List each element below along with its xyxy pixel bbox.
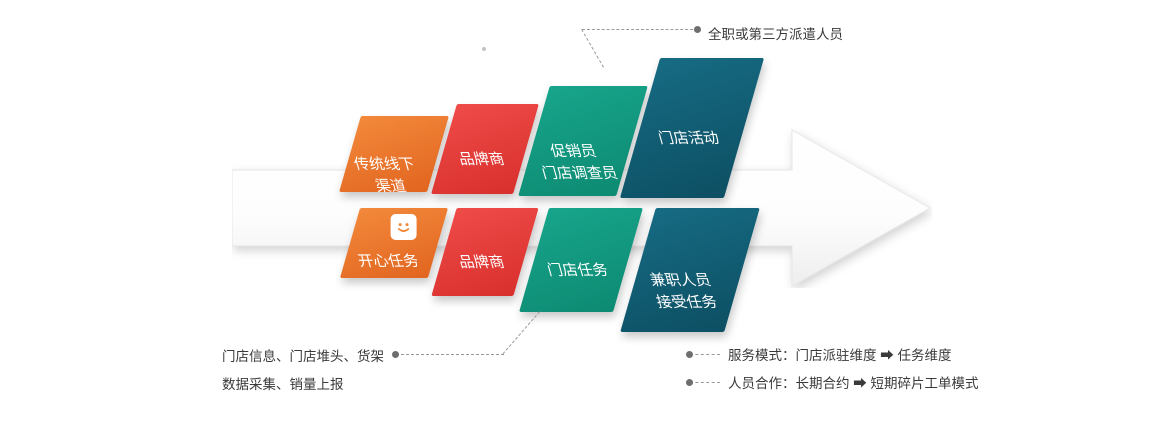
leader-top-right-vertical [582, 29, 698, 30]
tile-store-task-label: 门店任务 [531, 260, 625, 282]
tile-happy-task[interactable]: 开心任务 [340, 208, 448, 278]
dot-bottom-right-1 [686, 351, 693, 358]
tile-brand-owner-bottom-label: 品牌商 [441, 252, 523, 274]
annotation-bottom-right-line2: 人员合作：长期合约 ➡ 短期碎片工单模式 [728, 371, 979, 397]
diagram-canvas: 传统线下 渠道 品牌商 促销员 门店调查员 门店活动 开心任务 [0, 0, 1150, 430]
tile-traditional-channel-label: 传统线下 渠道 [344, 154, 432, 198]
tile-happy-task-label: 开心任务 [344, 251, 432, 273]
leader-bottom-right-line1 [690, 354, 720, 355]
tile-promoter-survey-label: 促销员 门店调查员 [528, 141, 626, 185]
annotation-bottom-left-line1: 门店信息、门店堆头、货架 [222, 344, 384, 370]
annotation-top-right: 全职或第三方派遣人员 [708, 22, 843, 48]
leader-bottom-right-line2 [690, 382, 720, 383]
leader-top-right-diagonal [581, 29, 604, 68]
annotation-bottom-left-line2: 数据采集、销量上报 [222, 372, 344, 398]
dot-top-right [694, 26, 701, 33]
tile-store-activity-label: 门店活动 [637, 128, 741, 150]
tile-parttime-accept-label: 兼职人员 接受任务 [632, 270, 736, 314]
smiley-icon [391, 214, 417, 240]
tile-brand-owner-top-label: 品牌商 [441, 149, 523, 171]
annotation-bottom-right-line1: 服务模式：门店派驻维度 ➡ 任务维度 [728, 343, 952, 369]
dot-bottom-left [392, 351, 399, 358]
dot-decorative [482, 47, 486, 51]
leader-bottom-left-horizontal [396, 354, 504, 355]
leader-bottom-left-diagonal [503, 311, 540, 354]
dot-bottom-right-2 [686, 379, 693, 386]
